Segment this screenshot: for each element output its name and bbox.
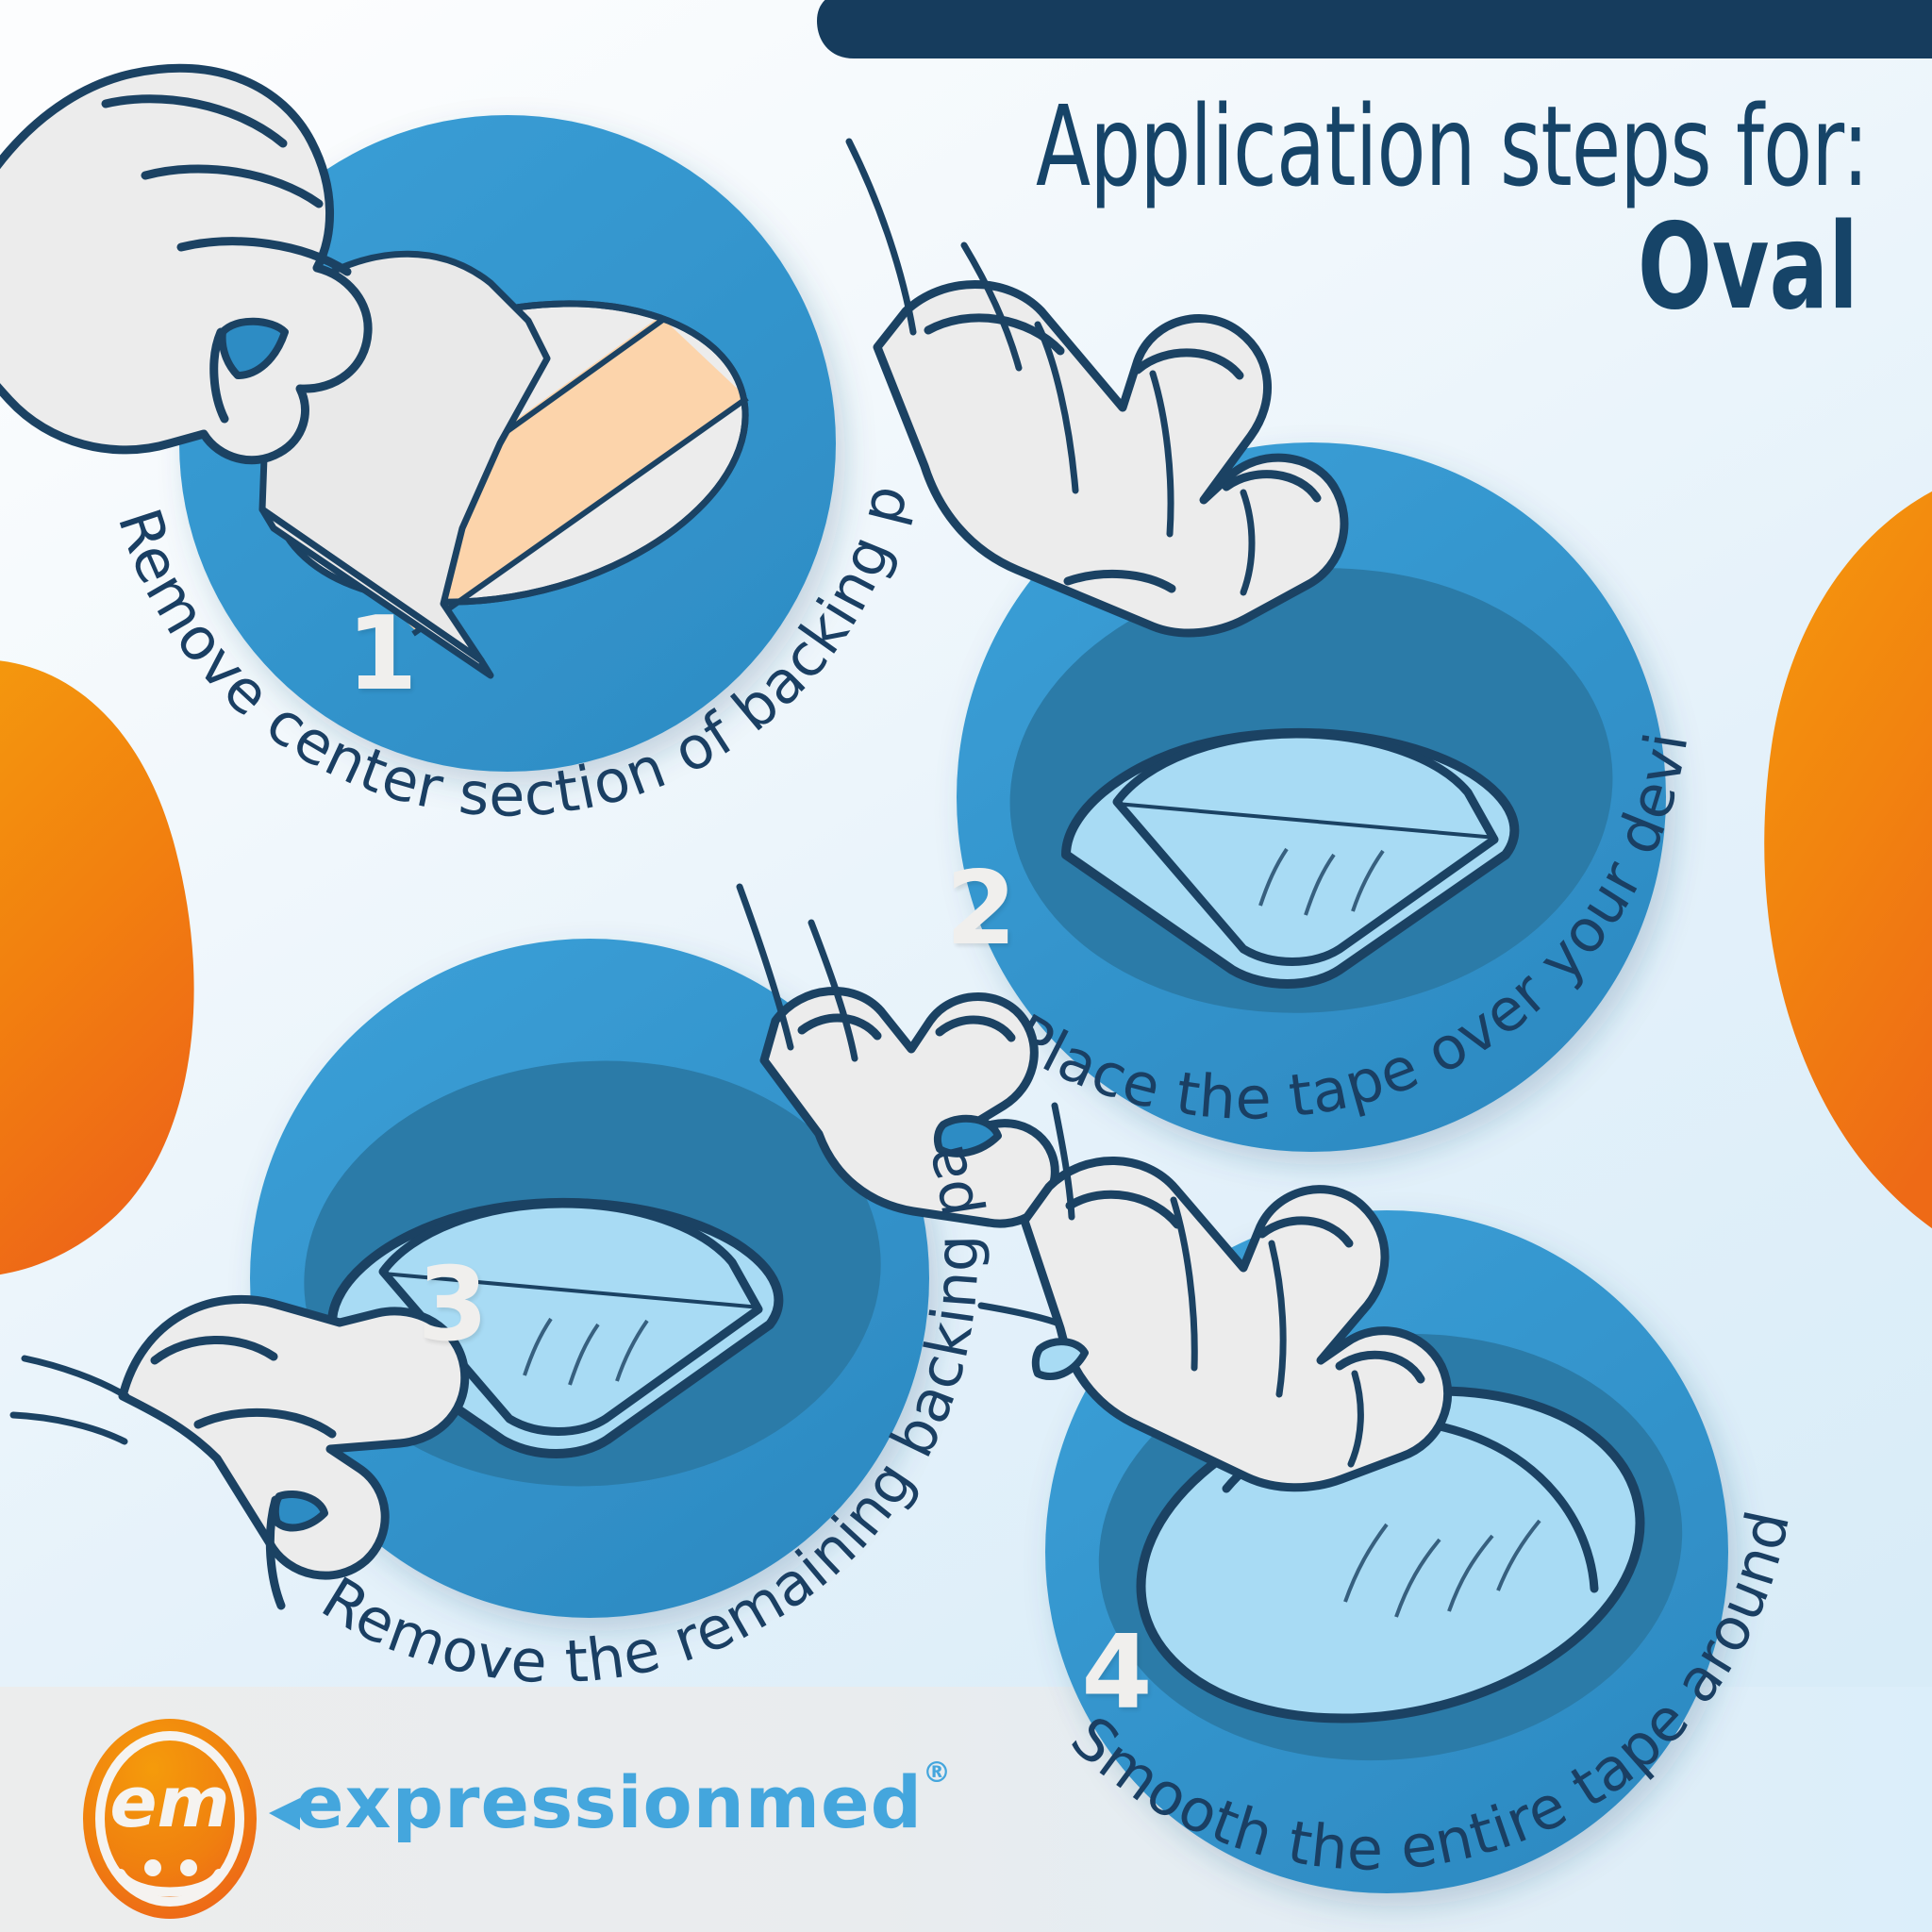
brand-logo-mark[interactable]: em [0, 0, 1932, 1932]
logo-eye-left [144, 1859, 161, 1876]
logo-em-text: em [109, 1762, 229, 1843]
trademark-symbol: ® [923, 1757, 952, 1790]
logo-eye-right [180, 1859, 197, 1876]
brand-wordmark[interactable]: expressionmed® [295, 1760, 952, 1844]
brand-name: expressionmed [295, 1760, 923, 1844]
infographic-canvas: Application steps for: Oval [0, 0, 1932, 1932]
